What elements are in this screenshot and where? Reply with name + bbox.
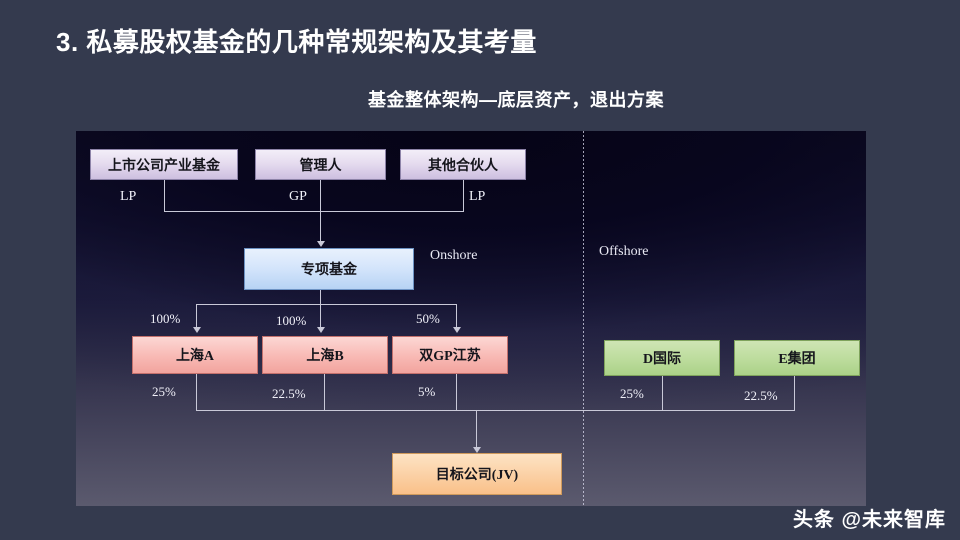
node-other-partners[interactable]: 其他合伙人 — [400, 149, 526, 180]
connector-fund-drop — [320, 211, 321, 243]
pct-e-group-to-target: 22.5% — [744, 388, 778, 404]
zone-label-offshore: Offshore — [599, 244, 649, 260]
connector-shanghai-a-out — [196, 374, 197, 410]
pct-shanghai-a-to-target: 25% — [152, 384, 176, 400]
connector-investors-bar — [164, 211, 464, 212]
role-label-lp-left: LP — [120, 189, 136, 205]
connector-lp-right-stem — [463, 180, 464, 211]
connector-target-drop — [476, 410, 477, 450]
arrow-into-dual-gp-jiangsu-icon — [453, 327, 461, 333]
node-dual-gp-jiangsu[interactable]: 双GP江苏 — [392, 336, 508, 374]
arrow-into-shanghai-b-icon — [317, 327, 325, 333]
pct-shanghai-b-to-target: 22.5% — [272, 386, 306, 402]
node-special-fund[interactable]: 专项基金 — [244, 248, 414, 290]
node-manager[interactable]: 管理人 — [255, 149, 386, 180]
node-d-international[interactable]: D国际 — [604, 340, 720, 376]
connector-d-international-out — [662, 376, 663, 410]
role-label-gp: GP — [289, 189, 307, 205]
zone-label-onshore: Onshore — [430, 248, 477, 264]
node-target-company[interactable]: 目标公司(JV) — [392, 453, 562, 495]
onshore-offshore-divider — [583, 131, 584, 506]
watermark: 头条 @未来智库 — [793, 503, 946, 532]
pct-dual-gp-jiangsu-to-target: 5% — [418, 384, 435, 400]
connector-e-group-out — [794, 376, 795, 410]
node-listed-company-industrial-fund[interactable]: 上市公司产业基金 — [90, 149, 238, 180]
node-shanghai-b[interactable]: 上海B — [262, 336, 388, 374]
pct-fund-to-dual-gp-jiangsu: 50% — [416, 311, 440, 327]
connector-spv-bar — [196, 304, 456, 305]
page-title: 3. 私募股权基金的几种常规架构及其考量 — [56, 22, 537, 59]
role-label-lp-right: LP — [469, 189, 485, 205]
connector-gp-stem — [320, 180, 321, 211]
pct-d-international-to-target: 25% — [620, 386, 644, 402]
connector-fund-out — [320, 290, 321, 304]
node-shanghai-a[interactable]: 上海A — [132, 336, 258, 374]
arrow-into-fund-icon — [317, 241, 325, 247]
arrow-into-shanghai-a-icon — [193, 327, 201, 333]
fund-structure-diagram: Onshore Offshore 上市公司产业基金 管理人 其他合伙人 LP G… — [76, 131, 866, 506]
pct-fund-to-shanghai-a: 100% — [150, 311, 180, 327]
node-e-group[interactable]: E集团 — [734, 340, 860, 376]
pct-fund-to-shanghai-b: 100% — [276, 313, 306, 329]
connector-lp-left-stem — [164, 180, 165, 211]
connector-dual-gp-jiangsu-out — [456, 374, 457, 410]
connector-shanghai-b-out — [324, 374, 325, 410]
connector-target-bar — [196, 410, 795, 411]
slide-canvas: 3. 私募股权基金的几种常规架构及其考量 基金整体架构—底层资产，退出方案 On… — [0, 0, 960, 540]
page-subtitle: 基金整体架构—底层资产，退出方案 — [0, 86, 960, 112]
